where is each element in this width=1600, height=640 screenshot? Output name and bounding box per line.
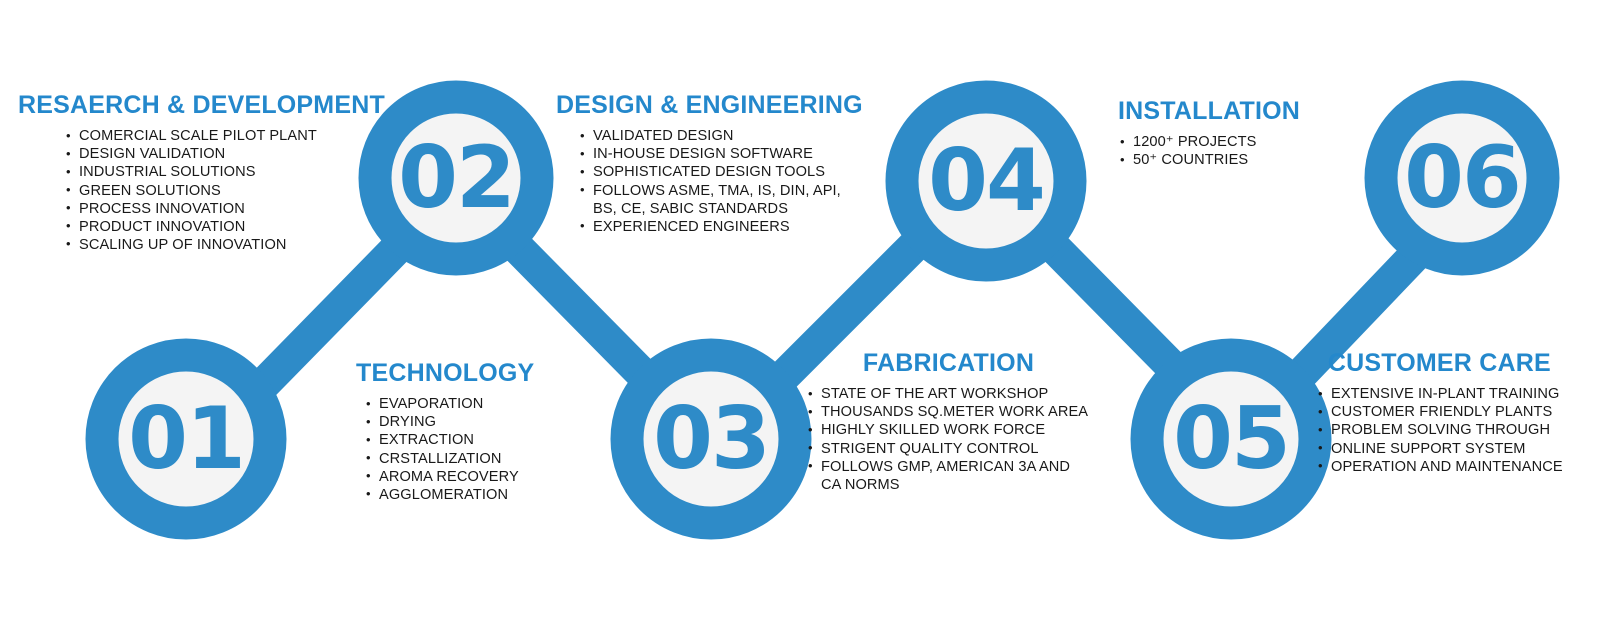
list-item: HIGHLY SKILLED WORK FORCE: [806, 421, 1091, 439]
list-item: FOLLOWS GMP, AMERICAN 3A AND CA NORMS: [806, 458, 1091, 494]
block-title-fabrication: FABRICATION: [806, 350, 1091, 376]
list-item: DRYING: [364, 413, 534, 431]
list-item: 50⁺ COUNTRIES: [1118, 151, 1300, 169]
node-circle-04[interactable]: [902, 97, 1070, 265]
block-installation: INSTALLATION 1200⁺ PROJECTS 50⁺ COUNTRIE…: [1118, 98, 1300, 169]
node-circle-05[interactable]: [1147, 355, 1315, 523]
block-design-engineering: DESIGN & ENGINEERING VALIDATED DESIGN IN…: [556, 92, 863, 236]
node-circle-03[interactable]: [627, 355, 795, 523]
list-item: SCALING UP OF INNOVATION: [64, 236, 385, 254]
list-item: SOPHISTICATED DESIGN TOOLS: [578, 163, 848, 181]
list-item: AGGLOMERATION: [364, 486, 534, 504]
list-item: STATE OF THE ART WORKSHOP: [806, 385, 1091, 403]
node-circle-01[interactable]: [102, 355, 270, 523]
list-item: PROCESS INNOVATION: [64, 200, 385, 218]
list-item: CRSTALLIZATION: [364, 450, 534, 468]
list-item: STRIGENT QUALITY CONTROL: [806, 440, 1091, 458]
list-item: ONLINE SUPPORT SYSTEM: [1316, 440, 1563, 458]
block-title-design-engineering: DESIGN & ENGINEERING: [556, 92, 863, 118]
bullet-list-research-development: COMERCIAL SCALE PILOT PLANT DESIGN VALID…: [64, 127, 385, 254]
list-item: COMERCIAL SCALE PILOT PLANT: [64, 127, 385, 145]
block-title-customer-care: CUSTOMER CARE: [1316, 350, 1563, 376]
node-circle-02[interactable]: [375, 97, 537, 259]
block-title-installation: INSTALLATION: [1118, 98, 1300, 124]
node-circle-06[interactable]: [1381, 97, 1543, 259]
bullet-list-installation: 1200⁺ PROJECTS 50⁺ COUNTRIES: [1118, 133, 1300, 169]
list-item: FOLLOWS ASME, TMA, IS, DIN, API, BS, CE,…: [578, 182, 848, 218]
list-item: VALIDATED DESIGN: [578, 127, 848, 145]
block-title-research-development: RESAERCH & DEVELOPMENT: [18, 92, 385, 118]
list-item: THOUSANDS SQ.METER WORK AREA: [806, 403, 1091, 421]
list-item: IN-HOUSE DESIGN SOFTWARE: [578, 145, 848, 163]
block-research-development: RESAERCH & DEVELOPMENT COMERCIAL SCALE P…: [18, 92, 385, 254]
bullet-list-fabrication: STATE OF THE ART WORKSHOP THOUSANDS SQ.M…: [806, 385, 1091, 494]
list-item: 1200⁺ PROJECTS: [1118, 133, 1300, 151]
bullet-list-technology: EVAPORATION DRYING EXTRACTION CRSTALLIZA…: [364, 395, 534, 504]
list-item: AROMA RECOVERY: [364, 468, 534, 486]
list-item: GREEN SOLUTIONS: [64, 182, 385, 200]
list-item: CUSTOMER FRIENDLY PLANTS: [1316, 403, 1563, 421]
block-title-technology: TECHNOLOGY: [356, 360, 534, 386]
list-item: EVAPORATION: [364, 395, 534, 413]
bullet-list-customer-care: EXTENSIVE IN-PLANT TRAINING CUSTOMER FRI…: [1316, 385, 1563, 475]
list-item: EXPERIENCED ENGINEERS: [578, 218, 848, 236]
list-item: PROBLEM SOLVING THROUGH: [1316, 421, 1563, 439]
list-item: EXTRACTION: [364, 431, 534, 449]
bullet-list-design-engineering: VALIDATED DESIGN IN-HOUSE DESIGN SOFTWAR…: [578, 127, 848, 236]
list-item: EXTENSIVE IN-PLANT TRAINING: [1316, 385, 1563, 403]
block-fabrication: FABRICATION STATE OF THE ART WORKSHOP TH…: [806, 350, 1091, 494]
infographic-canvas: 01 02 03 04 05 06 RESAERCH & DEVELOPMENT…: [0, 0, 1600, 640]
list-item: PRODUCT INNOVATION: [64, 218, 385, 236]
block-customer-care: CUSTOMER CARE EXTENSIVE IN-PLANT TRAININ…: [1316, 350, 1563, 476]
list-item: DESIGN VALIDATION: [64, 145, 385, 163]
list-item: OPERATION AND MAINTENANCE: [1316, 458, 1563, 476]
block-technology: TECHNOLOGY EVAPORATION DRYING EXTRACTION…: [356, 360, 534, 504]
list-item: INDUSTRIAL SOLUTIONS: [64, 163, 385, 181]
